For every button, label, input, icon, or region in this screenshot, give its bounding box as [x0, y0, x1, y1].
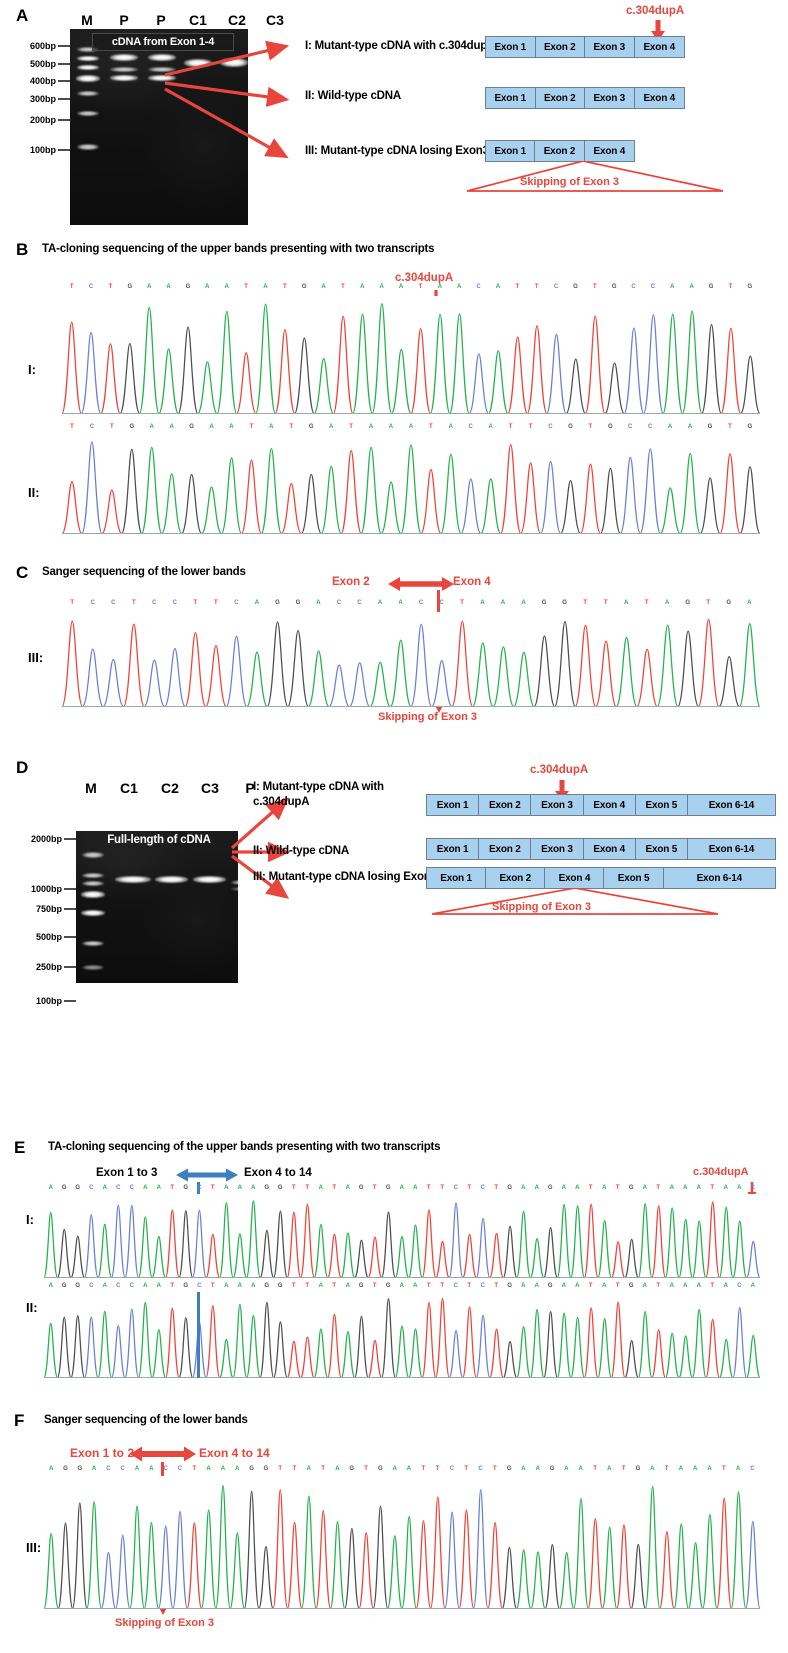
base-letter: T: [341, 424, 361, 430]
base-letter: A: [517, 1185, 531, 1191]
chromatogram-peaks: [44, 1476, 760, 1609]
panel-b-bases-ii: TCTGAAGAATATGATAAATACATTCGTGCCAAGTG: [62, 424, 760, 430]
base-letter: A: [139, 1283, 153, 1289]
base-letter: A: [731, 1466, 745, 1472]
base-letter: T: [721, 284, 740, 290]
base-letter: T: [124, 600, 145, 606]
exon-box: Exon 1: [486, 141, 535, 161]
base-letter: A: [409, 1283, 423, 1289]
exon-box: Exon 2: [479, 839, 531, 859]
base-letter: C: [541, 424, 561, 430]
panel-f-label: F: [14, 1411, 24, 1431]
panel-c-trace-label-iii: III:: [28, 650, 43, 665]
base-letter: A: [493, 600, 514, 606]
base-letter: T: [236, 284, 255, 290]
base-letter: T: [585, 284, 604, 290]
ladder-200bp: 200bp: [14, 115, 56, 125]
base-letter: G: [600, 424, 620, 430]
base-letter: G: [301, 424, 321, 430]
base-letter: T: [328, 1185, 342, 1191]
exon-box: Exon 1: [486, 88, 536, 108]
base-letter: A: [481, 424, 501, 430]
base-letter: A: [247, 1283, 261, 1289]
base-letter: A: [557, 1283, 571, 1289]
base-letter: C: [733, 1283, 747, 1289]
base-letter: T: [436, 1283, 450, 1289]
panel-c-title: Sanger sequencing of the lower bands: [42, 566, 246, 578]
exon-box: Exon 4: [635, 88, 685, 108]
base-letter: T: [301, 1283, 315, 1289]
base-letter: T: [421, 424, 441, 430]
exon-row-a-iii: Exon 1 Exon 2 Exon 4: [485, 140, 635, 162]
base-letter: C: [112, 1185, 126, 1191]
base-letter: A: [341, 1283, 355, 1289]
base-letter: A: [370, 600, 391, 606]
base-letter: A: [472, 600, 493, 606]
base-letter: A: [314, 1185, 328, 1191]
base-letter: C: [112, 1283, 126, 1289]
ladder-d-750bp: 750bp: [10, 904, 62, 914]
base-letter: G: [58, 1283, 72, 1289]
base-letter: T: [281, 424, 301, 430]
base-letter: C: [193, 1185, 207, 1191]
base-letter: C: [329, 600, 350, 606]
lane-header-d-c1: C1: [114, 780, 144, 796]
base-letter: C: [125, 1185, 139, 1191]
base-letter: T: [706, 1283, 720, 1289]
base-letter: A: [220, 1283, 234, 1289]
base-letter: A: [409, 1185, 423, 1191]
base-letter: T: [368, 1185, 382, 1191]
exon-box: Exon 3: [531, 795, 583, 815]
base-letter: G: [274, 1185, 288, 1191]
base-letter: C: [144, 600, 165, 606]
lane-header-m: M: [72, 12, 102, 28]
base-letter: T: [416, 1466, 430, 1472]
panel-e-right-exon-label: Exon 4 to 14: [244, 1167, 312, 1179]
chromatogram-peaks: [44, 1292, 760, 1378]
base-letter: T: [720, 424, 740, 430]
base-letter: G: [288, 600, 309, 606]
panel-c-right-exon-label: Exon 4: [453, 576, 491, 588]
base-letter: C: [469, 284, 488, 290]
panel-b-trace-label-i: I:: [28, 362, 36, 377]
panel-c-left-exon-label: Exon 2: [332, 576, 370, 588]
base-letter: G: [502, 1466, 516, 1472]
base-letter: A: [98, 1283, 112, 1289]
base-letter: T: [411, 284, 430, 290]
exon-row-d-i: Exon 1 Exon 2 Exon 3 Exon 4 Exon 5 Exon …: [426, 794, 776, 816]
base-letter: G: [719, 600, 740, 606]
panel-a-transcript-label-i: I: Mutant-type cDNA with c.304dupA: [305, 40, 495, 52]
exon-box: Exon 4: [585, 141, 634, 161]
panel-d-mutation-label: c.304dupA: [530, 764, 588, 776]
base-letter: C: [165, 600, 186, 606]
base-letter: G: [503, 1185, 517, 1191]
panel-e-bases-i: AGGCACCAATGCTAAAGGTTATAGTGAATTCTCTGAAGAA…: [44, 1185, 760, 1191]
base-letter: A: [517, 1283, 531, 1289]
base-letter: G: [259, 1466, 273, 1472]
exon-box: Exon 6-14: [664, 868, 775, 888]
base-letter: G: [503, 1283, 517, 1289]
base-letter: A: [314, 284, 333, 290]
exon-box: Exon 5: [636, 795, 688, 815]
base-letter: C: [643, 284, 662, 290]
base-letter: C: [85, 1185, 99, 1191]
lane-header-c1: C1: [183, 12, 213, 28]
ladder-d-2000bp: 2000bp: [10, 834, 62, 844]
base-letter: G: [71, 1185, 85, 1191]
exon-row-a-ii: Exon 1 Exon 2 Exon 3 Exon 4: [485, 87, 685, 109]
base-letter: A: [688, 1466, 702, 1472]
base-letter: A: [733, 1185, 747, 1191]
panel-f-title: Sanger sequencing of the lower bands: [44, 1414, 248, 1426]
base-letter: A: [739, 600, 760, 606]
base-letter: A: [531, 1466, 545, 1472]
base-letter: A: [233, 1185, 247, 1191]
panel-a-transcript-label-iii: III: Mutant-type cDNA losing Exon3: [305, 145, 489, 157]
base-letter: C: [431, 600, 452, 606]
base-letter: G: [295, 284, 314, 290]
base-letter: G: [701, 284, 720, 290]
base-letter: A: [571, 1185, 585, 1191]
base-letter: A: [430, 284, 449, 290]
exon-box: Exon 5: [636, 839, 688, 859]
base-letter: C: [461, 424, 481, 430]
panel-f-skipping-label: Skipping of Exon 3: [115, 1617, 214, 1629]
panel-e-chromatogram-i: [44, 1194, 760, 1278]
lane-header-d-c3: C3: [195, 780, 225, 796]
base-letter: A: [660, 424, 680, 430]
base-letter: T: [185, 600, 206, 606]
base-letter: T: [62, 600, 83, 606]
base-letter: C: [116, 1466, 130, 1472]
base-letter: A: [680, 424, 700, 430]
base-letter: C: [476, 1185, 490, 1191]
base-letter: A: [44, 1466, 58, 1472]
base-letter: T: [488, 1466, 502, 1472]
base-letter: T: [187, 1466, 201, 1472]
base-letter: A: [308, 600, 329, 606]
base-letter: T: [206, 600, 227, 606]
base-letter: A: [530, 1283, 544, 1289]
panel-a-arrows: [155, 35, 300, 165]
panel-c-label: C: [16, 563, 28, 583]
base-letter: T: [580, 424, 600, 430]
base-letter: T: [62, 284, 81, 290]
base-letter: A: [202, 424, 222, 430]
base-letter: A: [216, 1466, 230, 1472]
base-letter: T: [275, 284, 294, 290]
base-letter: A: [230, 1466, 244, 1472]
panel-a-transcript-label-ii: II: Wild-type cDNA: [305, 90, 401, 102]
base-letter: C: [349, 600, 370, 606]
base-letter: A: [638, 1185, 652, 1191]
exon-box: Exon 4: [545, 868, 604, 888]
base-letter: C: [81, 284, 100, 290]
base-letter: G: [677, 600, 698, 606]
ladder-d-1000bp: 1000bp: [10, 884, 62, 894]
lane-header-d-c2: C2: [155, 780, 185, 796]
panel-b-label: B: [16, 240, 28, 260]
base-letter: C: [546, 284, 565, 290]
base-letter: A: [144, 1466, 158, 1472]
base-letter: T: [659, 1466, 673, 1472]
base-letter: G: [267, 600, 288, 606]
base-letter: A: [530, 1185, 544, 1191]
base-letter: T: [521, 424, 541, 430]
base-letter: G: [700, 424, 720, 430]
chromatogram-peaks: [62, 296, 760, 414]
exon-box: Exon 3: [585, 37, 635, 57]
exon-row-a-i: Exon 1 Exon 2 Exon 3 Exon 4: [485, 36, 685, 58]
base-letter: A: [98, 1185, 112, 1191]
exon-box: Exon 5: [604, 868, 663, 888]
base-letter: T: [459, 1466, 473, 1472]
panel-b-title: TA-cloning sequencing of the upper bands…: [42, 243, 434, 255]
base-letter: T: [717, 1466, 731, 1472]
panel-e-trace-label-ii: II:: [26, 1300, 38, 1315]
panel-a-label: A: [16, 6, 28, 26]
base-letter: G: [122, 424, 142, 430]
base-letter: A: [719, 1283, 733, 1289]
base-letter: G: [274, 1283, 288, 1289]
base-letter: A: [198, 284, 217, 290]
exon-row-d-ii: Exon 1 Exon 2 Exon 3 Exon 4 Exon 5 Exon …: [426, 838, 776, 860]
gel-caption-panel-a: cDNA from Exon 1-4: [92, 33, 234, 51]
base-letter: T: [287, 1185, 301, 1191]
panel-b-chromatogram-ii: [62, 436, 760, 534]
exon-box: Exon 1: [427, 868, 486, 888]
ladder-500bp: 500bp: [14, 59, 56, 69]
base-letter: A: [130, 1466, 144, 1472]
panel-f-chromatogram: [44, 1476, 760, 1609]
exon-box: Exon 2: [535, 141, 584, 161]
base-letter: A: [402, 1466, 416, 1472]
base-letter: C: [746, 1185, 760, 1191]
base-letter: T: [301, 1185, 315, 1191]
panel-e-mutation-label: c.304dupA: [693, 1166, 749, 1178]
base-letter: A: [516, 1466, 530, 1472]
junction-double-arrow-e: [176, 1166, 238, 1184]
base-letter: T: [206, 1185, 220, 1191]
base-letter: C: [473, 1466, 487, 1472]
panel-b-mutation-label: c.304dupA: [395, 272, 453, 284]
base-letter: G: [566, 284, 585, 290]
base-letter: T: [463, 1283, 477, 1289]
base-letter: A: [557, 1185, 571, 1191]
base-letter: A: [390, 600, 411, 606]
base-letter: T: [463, 1185, 477, 1191]
base-letter: A: [441, 424, 461, 430]
base-letter: C: [745, 1466, 759, 1472]
base-letter: T: [430, 1466, 444, 1472]
ladder-400bp: 400bp: [14, 76, 56, 86]
base-letter: G: [534, 600, 555, 606]
ladder-d-250bp: 250bp: [10, 962, 62, 972]
base-letter: C: [83, 600, 104, 606]
base-letter: T: [452, 600, 473, 606]
base-letter: G: [382, 1185, 396, 1191]
base-letter: C: [226, 600, 247, 606]
panel-f-right-exon-label: Exon 4 to 14: [199, 1446, 270, 1460]
exon-box: Exon 1: [486, 37, 536, 57]
base-letter: T: [62, 424, 82, 430]
base-letter: C: [159, 1466, 173, 1472]
base-letter: G: [355, 1283, 369, 1289]
ladder-d-100bp: 100bp: [10, 996, 62, 1006]
base-letter: G: [373, 1466, 387, 1472]
base-letter: A: [674, 1466, 688, 1472]
base-letter: T: [287, 1466, 301, 1472]
base-letter: G: [631, 1466, 645, 1472]
ladder-d-500bp: 500bp: [10, 932, 62, 942]
lane-header-d-m: M: [76, 780, 106, 796]
base-letter: A: [602, 1466, 616, 1472]
panel-e-trace-label-i: I:: [26, 1212, 34, 1227]
base-letter: T: [359, 1466, 373, 1472]
lane-header-p1: P: [109, 12, 139, 28]
base-letter: T: [422, 1185, 436, 1191]
base-letter: A: [247, 1185, 261, 1191]
base-letter: T: [588, 1466, 602, 1472]
base-letter: A: [665, 1283, 679, 1289]
base-letter: G: [179, 1185, 193, 1191]
panel-c-chromatogram: [62, 612, 760, 707]
junction-line-e2: [197, 1292, 200, 1378]
panel-f-left-exon-label: Exon 1 to 2: [70, 1446, 134, 1460]
base-letter: A: [233, 1283, 247, 1289]
base-letter: A: [571, 1283, 585, 1289]
base-letter: C: [411, 600, 432, 606]
base-letter: T: [508, 284, 527, 290]
panel-a-mutation-label: c.304dupA: [626, 5, 684, 17]
base-letter: A: [321, 424, 341, 430]
base-letter: G: [244, 1466, 258, 1472]
base-letter: C: [640, 424, 660, 430]
base-letter: A: [222, 424, 242, 430]
base-letter: A: [616, 600, 637, 606]
base-letter: T: [611, 1185, 625, 1191]
panel-f-bases: AGGACCAACCTAAAGGTTATAGTGAATTCTCTGAAGAATA…: [44, 1466, 760, 1472]
base-letter: T: [652, 1283, 666, 1289]
base-letter: T: [241, 424, 261, 430]
panel-f-trace-label-iii: III:: [26, 1540, 41, 1555]
base-letter: A: [330, 1466, 344, 1472]
exon-box: Exon 3: [531, 839, 583, 859]
ladder-100bp: 100bp: [14, 145, 56, 155]
base-letter: A: [139, 1185, 153, 1191]
base-letter: A: [87, 1466, 101, 1472]
base-letter: A: [450, 284, 469, 290]
exon-box: Exon 2: [536, 37, 586, 57]
base-letter: T: [611, 1283, 625, 1289]
base-letter: A: [395, 1283, 409, 1289]
base-letter: G: [58, 1185, 72, 1191]
base-letter: C: [193, 1283, 207, 1289]
base-letter: A: [682, 284, 701, 290]
panel-d-transcript-label-iii: III: Mutant-type cDNA losing Exon3: [253, 871, 437, 883]
exon-box: Exon 2: [479, 795, 531, 815]
panel-e-label: E: [14, 1138, 25, 1158]
exon-box: Exon 4: [635, 37, 685, 57]
base-letter: T: [166, 1283, 180, 1289]
base-letter: G: [178, 284, 197, 290]
panel-c-bases: TCCTCCTTCAGGACCAACCTAAAGGTTATAGTGA: [62, 600, 760, 606]
base-letter: G: [71, 1283, 85, 1289]
base-letter: T: [501, 424, 521, 430]
base-letter: T: [287, 1283, 301, 1289]
base-letter: C: [101, 1466, 115, 1472]
base-letter: T: [101, 284, 120, 290]
base-letter: A: [381, 424, 401, 430]
base-letter: A: [692, 1283, 706, 1289]
base-letter: T: [166, 1185, 180, 1191]
base-letter: G: [382, 1283, 396, 1289]
base-letter: C: [173, 1466, 187, 1472]
exon-box: Exon 6-14: [688, 795, 775, 815]
base-letter: T: [575, 600, 596, 606]
base-letter: A: [391, 284, 410, 290]
base-letter: G: [605, 284, 624, 290]
base-letter: T: [273, 1466, 287, 1472]
base-letter: A: [395, 1185, 409, 1191]
base-letter: T: [333, 284, 352, 290]
exon-box: Exon 6-14: [688, 839, 775, 859]
base-letter: T: [490, 1283, 504, 1289]
base-letter: A: [162, 424, 182, 430]
ladder-600bp: 600bp: [14, 41, 56, 51]
base-letter: G: [544, 1283, 558, 1289]
base-letter: A: [702, 1466, 716, 1472]
base-letter: A: [372, 284, 391, 290]
base-letter: A: [679, 1283, 693, 1289]
base-letter: A: [574, 1466, 588, 1472]
chromatogram-peaks: [62, 612, 760, 707]
panel-c-skipping-label: Skipping of Exon 3: [378, 711, 477, 723]
base-letter: T: [316, 1466, 330, 1472]
panel-d-label: D: [16, 758, 28, 778]
base-letter: A: [314, 1283, 328, 1289]
base-letter: T: [490, 1185, 504, 1191]
base-letter: A: [201, 1466, 215, 1472]
base-letter: A: [361, 424, 381, 430]
base-letter: A: [247, 600, 268, 606]
exon-box: Exon 4: [584, 795, 636, 815]
exon-box: Exon 4: [584, 839, 636, 859]
base-letter: G: [73, 1466, 87, 1472]
base-letter: C: [125, 1283, 139, 1289]
base-letter: G: [58, 1466, 72, 1472]
exon-row-d-iii: Exon 1 Exon 2 Exon 4 Exon 5 Exon 6-14: [426, 867, 776, 889]
base-letter: G: [560, 424, 580, 430]
base-letter: T: [584, 1283, 598, 1289]
base-letter: A: [256, 284, 275, 290]
base-letter: A: [217, 284, 236, 290]
base-letter: T: [584, 1185, 598, 1191]
base-letter: A: [388, 1466, 402, 1472]
base-letter: A: [140, 284, 159, 290]
base-letter: T: [368, 1283, 382, 1289]
base-letter: C: [449, 1185, 463, 1191]
exon-box: Exon 3: [585, 88, 635, 108]
base-letter: T: [102, 424, 122, 430]
base-letter: G: [260, 1283, 274, 1289]
base-letter: G: [740, 424, 760, 430]
exon-box: Exon 1: [427, 795, 479, 815]
base-letter: C: [476, 1283, 490, 1289]
base-letter: A: [657, 600, 678, 606]
